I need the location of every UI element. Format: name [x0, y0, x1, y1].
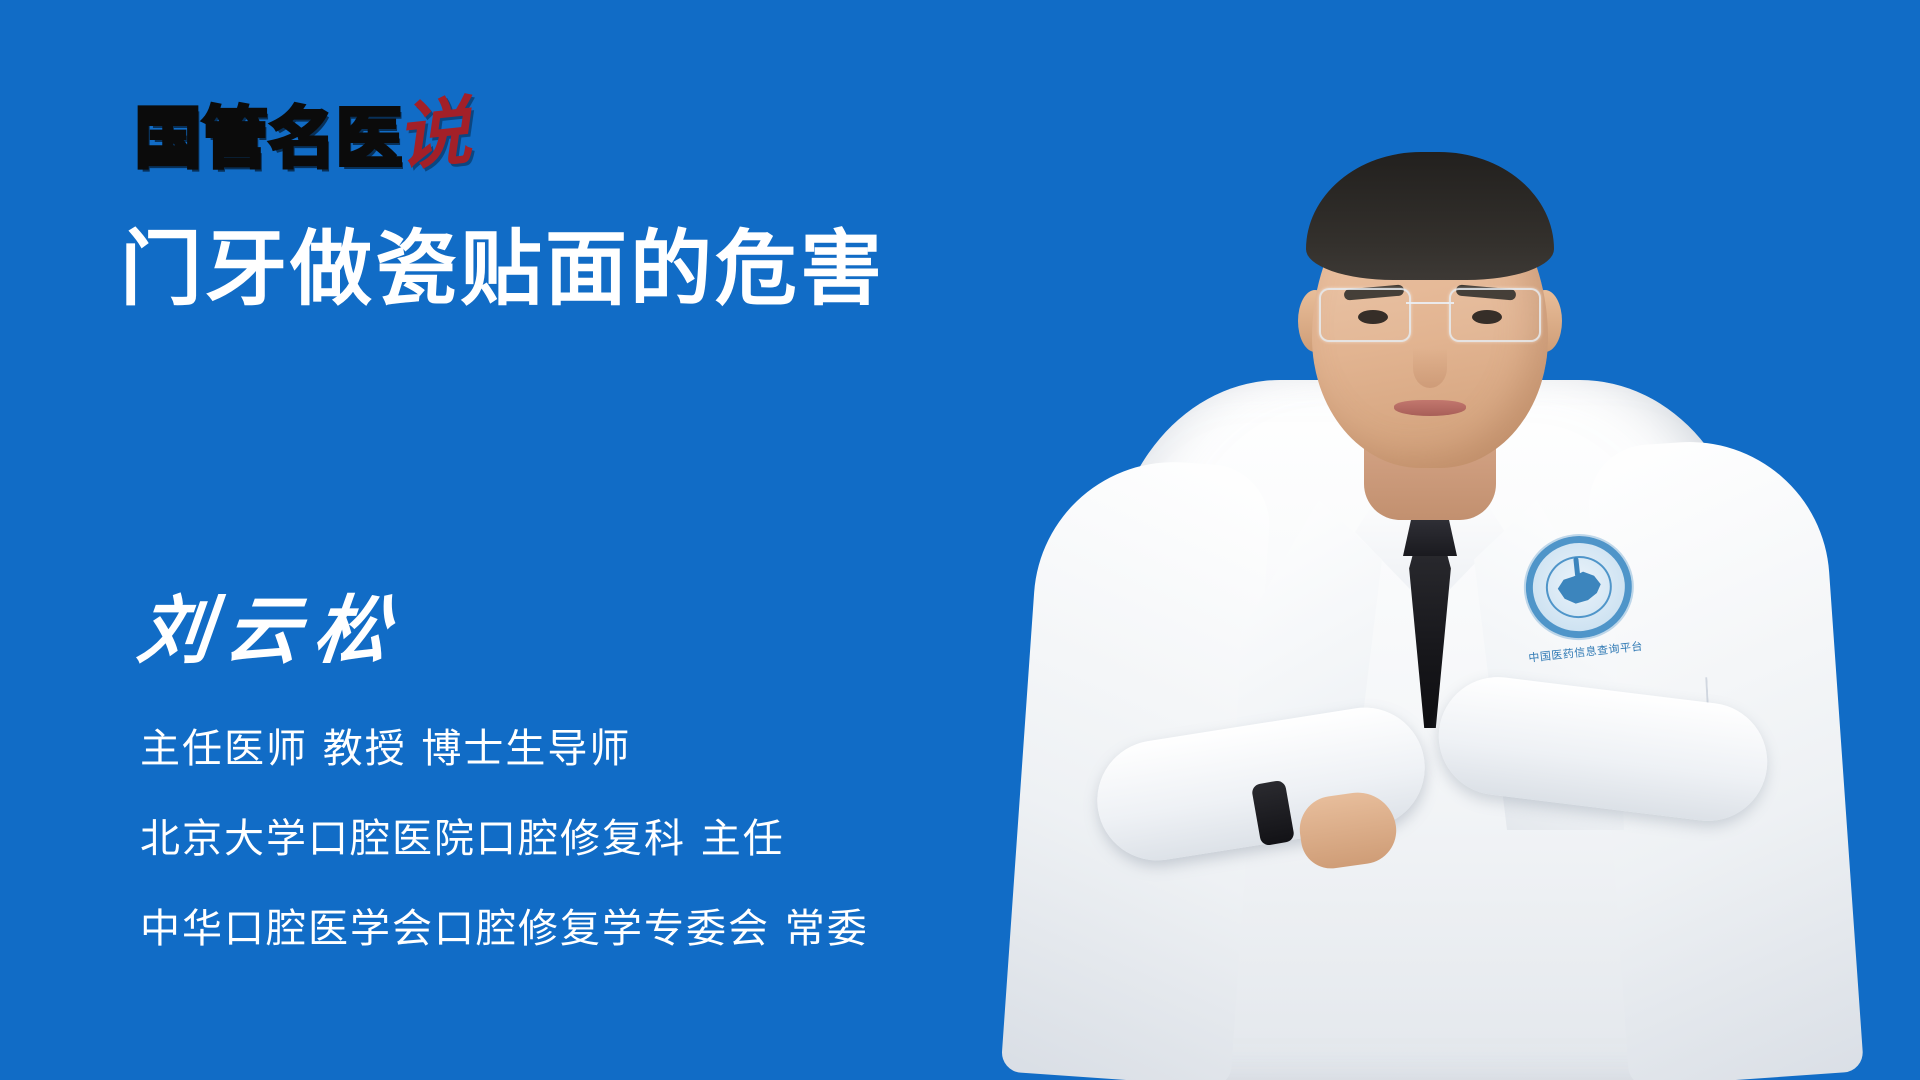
credential-line: 主任医师 教授 博士生导师 — [140, 725, 869, 773]
lens-left — [1319, 288, 1411, 342]
chest-badge: 中国医药信息查询平台 — [1520, 531, 1640, 666]
credential-line: 北京大学口腔医院口腔修复科 主任 — [140, 815, 869, 863]
lens-right — [1449, 288, 1541, 342]
glasses-bridge — [1406, 302, 1454, 304]
hair — [1306, 152, 1554, 280]
eyeglasses — [1317, 288, 1543, 344]
slide-canvas: 国管名医 说 门牙做瓷贴面的危害 刘云松 主任医师 教授 博士生导师 北京大学口… — [0, 0, 1920, 1080]
mouth — [1394, 400, 1466, 416]
doctor-credentials: 主任医师 教授 博士生导师 北京大学口腔医院口腔修复科 主任 中华口腔医学会口腔… — [140, 725, 869, 953]
doctor-name: 刘云松 — [134, 590, 407, 672]
badge-seal-icon — [1521, 531, 1637, 644]
brand-logo-outline-text: 国管名医 — [135, 106, 403, 172]
credential-line: 中华口腔医学会口腔修复学专委会 常委 — [140, 905, 869, 953]
brand-logo-accent-text: 说 — [393, 98, 473, 171]
brand-logo: 国管名医 说 — [135, 98, 471, 172]
page-title: 门牙做瓷贴面的危害 — [120, 222, 885, 318]
nose — [1413, 348, 1447, 388]
doctor-portrait: 中国医药信息查询平台 — [1000, 0, 1860, 1080]
